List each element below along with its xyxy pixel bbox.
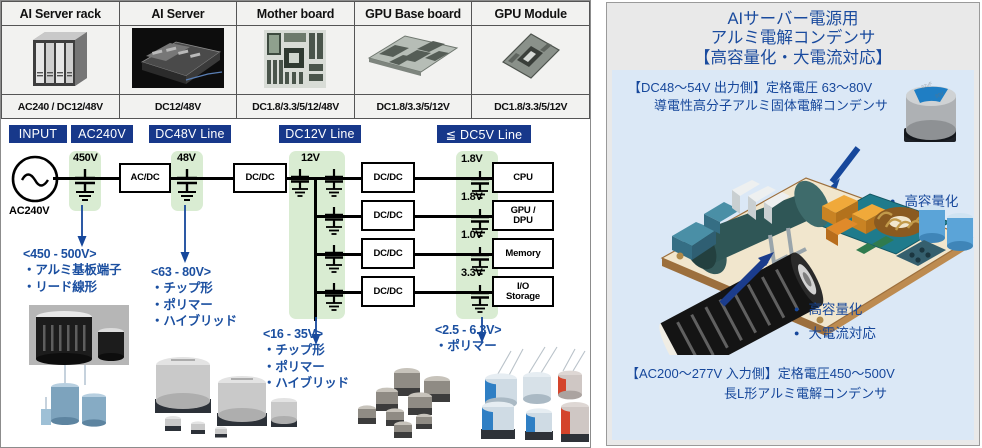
right-title-line-1: AIサーバー電源用 bbox=[728, 10, 859, 29]
annotation-arrow-2 bbox=[179, 205, 191, 263]
cell-image-ai-server bbox=[119, 26, 237, 95]
annotation-item-2-2: ハイブリッド bbox=[151, 313, 237, 330]
table-header-mother-board: Mother board bbox=[237, 2, 355, 26]
cell-image-gpu-base-board bbox=[354, 26, 472, 95]
annotation-item-3-0: チップ形 bbox=[263, 342, 349, 359]
gpu-module-photo bbox=[474, 28, 587, 92]
table-header-gpu-module: GPU Module bbox=[472, 2, 590, 26]
annotation-list-3: チップ形 ポリマー ハイブリッド bbox=[263, 342, 349, 392]
converter-block-dcdc-main: DC/DC bbox=[233, 163, 287, 193]
table-header-ai-server-rack: AI Server rack bbox=[2, 2, 120, 26]
section-label-dc5v: ≦ DC5V Line bbox=[437, 125, 531, 143]
snap-in-and-lead-type-capacitors-photo bbox=[29, 305, 147, 435]
polymer-capacitors-photo bbox=[471, 337, 591, 448]
right-mid-bullet-2: 大電流対応 bbox=[794, 322, 876, 342]
converter-block-acdc: AC/DC bbox=[119, 163, 171, 193]
capacitor-symbol-450v bbox=[71, 169, 99, 203]
table-header-gpu-base-board: GPU Base board bbox=[354, 2, 472, 26]
capacitor-symbol-12v-1 bbox=[321, 169, 347, 199]
gpu-base-board-photo bbox=[357, 28, 470, 92]
annotation-range-3: <16 - 35V> bbox=[263, 327, 349, 341]
capacitor-symbol-12v-input bbox=[287, 169, 313, 199]
out-rail-label-3: 1.0V bbox=[461, 229, 482, 241]
table-header-ai-server: AI Server bbox=[119, 2, 237, 26]
section-label-input: INPUT bbox=[9, 125, 67, 143]
load-block-memory: Memory bbox=[492, 238, 554, 269]
rail-label-12v: 12V bbox=[301, 152, 320, 164]
annotation-item-3-1: ポリマー bbox=[263, 359, 349, 376]
section-label-dc12v: DC12V Line bbox=[279, 125, 361, 143]
right-bottom-caption-line-1: 【AC200～277V 入力側】定格電圧450～500V bbox=[626, 366, 895, 382]
left-panel: AI Server rack AI Server Mother board GP… bbox=[0, 0, 591, 448]
product-table: AI Server rack AI Server Mother board GP… bbox=[1, 1, 590, 119]
annotation-arrow-1 bbox=[76, 205, 88, 247]
table-image-row bbox=[2, 26, 590, 95]
right-bottom-caption-line-2: 長L形アルミ電解コンデンサ bbox=[724, 386, 887, 402]
right-mid-bullet-1: 高容量化 bbox=[794, 298, 862, 318]
wire-12v-vertical-bus bbox=[314, 177, 317, 321]
right-top-caption-line-2: 導電性高分子アルミ固体電解コンデンサ bbox=[654, 98, 888, 114]
converter-block-dcdc-4: DC/DC bbox=[361, 276, 415, 307]
capacitor-symbol-48v bbox=[173, 169, 201, 203]
ac-source-label: AC240V bbox=[9, 205, 49, 217]
capacitor-symbol-12v-4 bbox=[321, 283, 347, 313]
annotation-450-500v: <450 - 500V> アルミ基板端子 リード線形 bbox=[23, 247, 121, 295]
small-chip-capacitors-photo bbox=[346, 357, 476, 448]
annotation-item-2-1: ポリマー bbox=[151, 297, 237, 314]
load-block-io-storage: I/O Storage bbox=[492, 276, 554, 307]
table-voltage-1: DC12/48V bbox=[119, 95, 237, 119]
rail-label-48v: 48V bbox=[177, 152, 196, 164]
cell-image-server-rack bbox=[2, 26, 120, 95]
annotation-16-35v: <16 - 35V> チップ形 ポリマー ハイブリッド bbox=[263, 327, 349, 392]
annotation-item-1-1: リード線形 bbox=[23, 279, 121, 296]
motherboard-photo bbox=[239, 28, 352, 92]
power-architecture-diagram: INPUT AC240V DC48V Line DC12V Line ≦ DC5… bbox=[1, 119, 590, 447]
annotation-item-3-2: ハイブリッド bbox=[263, 375, 349, 392]
table-voltage-4: DC1.8/3.3/5/12V bbox=[472, 95, 590, 119]
section-label-dc48v: DC48V Line bbox=[149, 125, 231, 143]
annotation-item-2-0: チップ形 bbox=[151, 280, 237, 297]
annotation-range-2: <63 - 80V> bbox=[151, 265, 237, 279]
annotation-63-80v: <63 - 80V> チップ形 ポリマー ハイブリッド bbox=[151, 265, 237, 330]
slide-root: AI Server rack AI Server Mother board GP… bbox=[0, 0, 982, 448]
converter-block-dcdc-3: DC/DC bbox=[361, 238, 415, 269]
table-header-row: AI Server rack AI Server Mother board GP… bbox=[2, 2, 590, 26]
cell-image-mother-board bbox=[237, 26, 355, 95]
table-voltage-row: AC240 / DC12/48V DC12/48V DC1.8/3.3/5/12… bbox=[2, 95, 590, 119]
ai-server-photo bbox=[122, 28, 235, 92]
cell-image-gpu-module bbox=[472, 26, 590, 95]
annotation-range-4: <2.5 - 6.3V> bbox=[435, 323, 501, 337]
table-voltage-0: AC240 / DC12/48V bbox=[2, 95, 120, 119]
out-rail-label-1: 1.8V bbox=[461, 153, 482, 165]
annotation-range-1: <450 - 500V> bbox=[23, 247, 121, 261]
capacitor-symbol-12v-2 bbox=[321, 207, 347, 237]
rail-label-450v: 450V bbox=[73, 152, 98, 164]
capacitor-symbol-out-4 bbox=[467, 285, 493, 315]
right-title-line-3: 【高容量化・大電流対応】 bbox=[694, 49, 892, 68]
converter-block-dcdc-2: DC/DC bbox=[361, 200, 415, 231]
annotation-list-1: アルミ基板端子 リード線形 bbox=[23, 262, 121, 295]
load-block-gpu-dpu: GPU / DPU bbox=[492, 200, 554, 231]
annotation-item-1-0: アルミ基板端子 bbox=[23, 262, 121, 279]
table-voltage-2: DC1.8/3.3/5/12/48V bbox=[237, 95, 355, 119]
right-title-line-2: アルミ電解コンデンサ bbox=[711, 29, 876, 48]
out-rail-label-2: 1.8V bbox=[461, 191, 482, 203]
section-label-ac240v: AC240V bbox=[71, 125, 133, 143]
right-top-caption-line-1: 【DC48～54V 出力側】定格電圧 63～80V bbox=[628, 80, 872, 96]
table-voltage-3: DC1.8/3.3/5/12V bbox=[354, 95, 472, 119]
right-panel: AIサーバー電源用 アルミ電解コンデンサ 【高容量化・大電流対応】 【DC48～… bbox=[606, 2, 980, 446]
out-rail-label-4: 3.3V bbox=[461, 267, 482, 279]
capacitor-symbol-12v-3 bbox=[321, 245, 347, 275]
annotation-list-2: チップ形 ポリマー ハイブリッド bbox=[151, 280, 237, 330]
right-panel-header: AIサーバー電源用 アルミ電解コンデンサ 【高容量化・大電流対応】 bbox=[612, 8, 974, 70]
right-panel-body: 【DC48～54V 出力側】定格電圧 63～80V 導電性高分子アルミ固体電解コ… bbox=[612, 70, 974, 440]
converter-block-dcdc-1: DC/DC bbox=[361, 162, 415, 193]
load-block-cpu: CPU bbox=[492, 162, 554, 193]
server-rack-photo bbox=[4, 28, 117, 92]
